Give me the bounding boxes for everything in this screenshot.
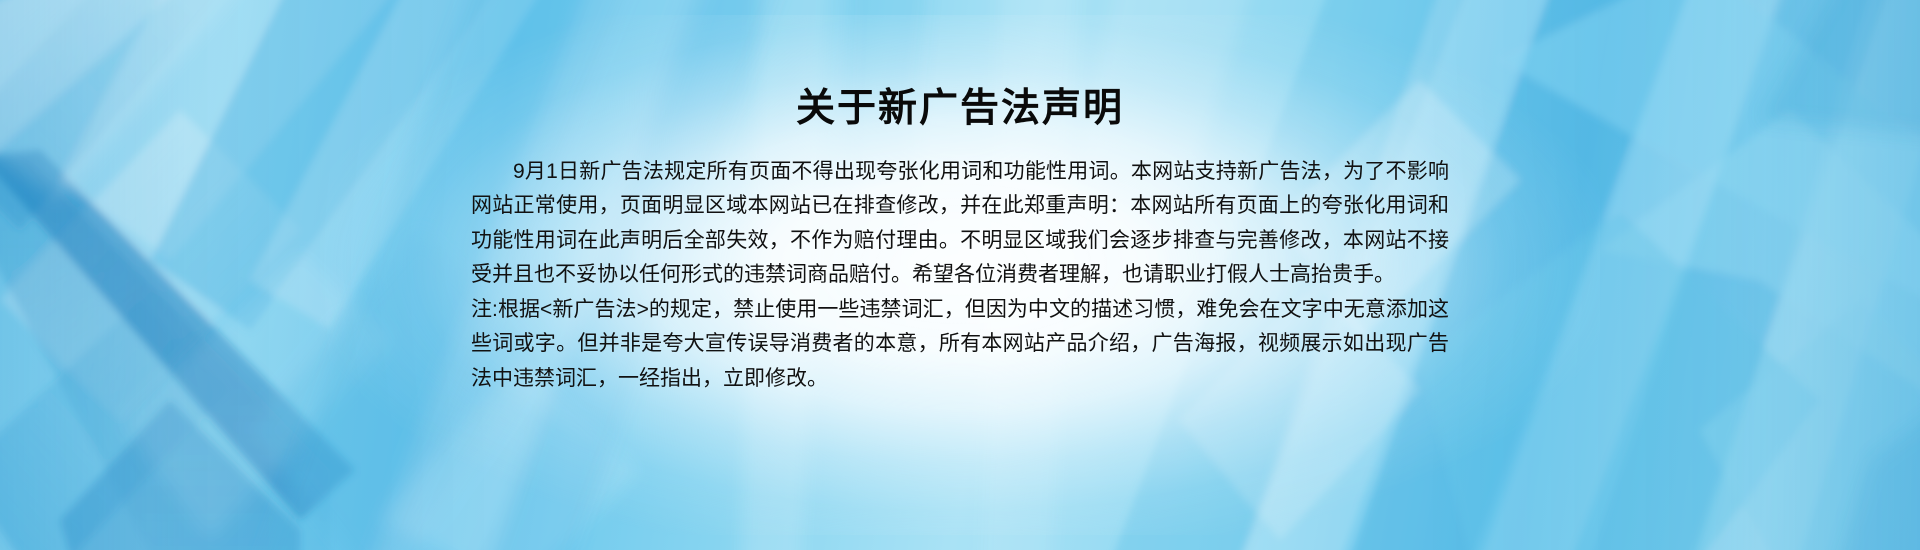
advertising-law-statement-banner: 关于新广告法声明 9月1日新广告法规定所有页面不得出现夸张化用词和功能性用词。本…	[0, 0, 1920, 550]
note-paragraph: 注:根据<新广告法>的规定，禁止使用一些违禁词汇，但因为中文的描述习惯，难免会在…	[471, 293, 1449, 397]
statement-content: 关于新广告法声明 9月1日新广告法规定所有页面不得出现夸张化用词和功能性用词。本…	[0, 0, 1920, 550]
statement-body: 9月1日新广告法规定所有页面不得出现夸张化用词和功能性用词。本网站支持新广告法，…	[471, 155, 1449, 397]
page-title: 关于新广告法声明	[796, 86, 1124, 133]
statement-paragraph: 9月1日新广告法规定所有页面不得出现夸张化用词和功能性用词。本网站支持新广告法，…	[471, 155, 1449, 293]
